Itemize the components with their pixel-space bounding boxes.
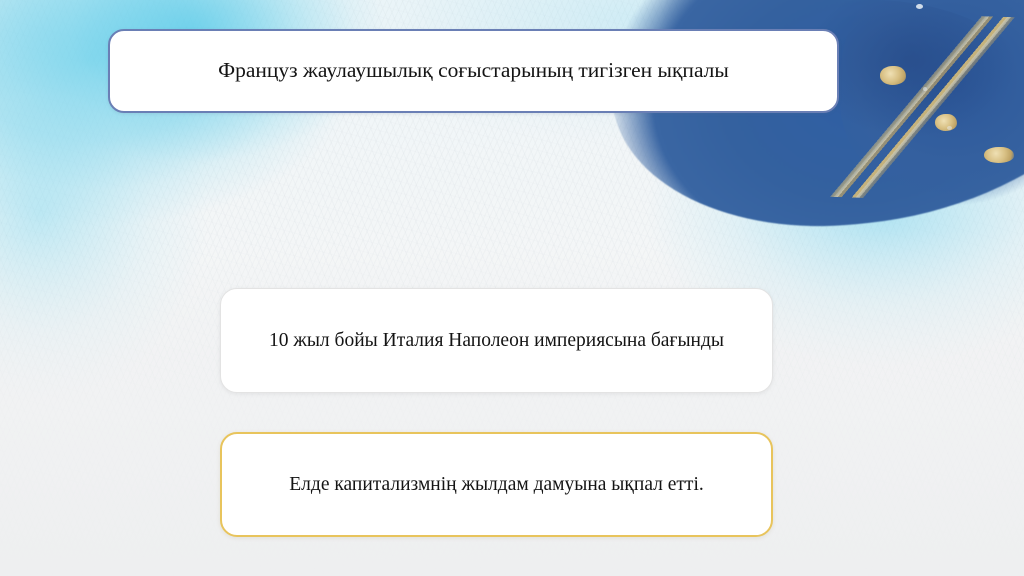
fact-box-second: Елде капитализмнің жылдам дамуына ықпал … bbox=[220, 432, 773, 537]
fact-box-second-text: Елде капитализмнің жылдам дамуына ықпал … bbox=[271, 472, 722, 497]
gold-speck-icon bbox=[984, 147, 1014, 163]
slide-title-box: Француз жаулаушылық соғыстарының тигізге… bbox=[108, 29, 839, 113]
slide-title-text: Француз жаулаушылық соғыстарының тигізге… bbox=[200, 57, 747, 85]
fact-box-first-text: 10 жыл бойы Италия Наполеон империясына … bbox=[251, 328, 742, 353]
paint-fleck bbox=[916, 4, 923, 9]
paint-fleck bbox=[923, 87, 927, 91]
paint-fleck bbox=[947, 126, 952, 130]
gold-speck-icon bbox=[880, 66, 906, 85]
gold-speck-icon bbox=[935, 114, 957, 131]
fact-box-first: 10 жыл бойы Италия Наполеон империясына … bbox=[220, 288, 773, 393]
presentation-slide: Француз жаулаушылық соғыстарының тигізге… bbox=[0, 0, 1024, 576]
